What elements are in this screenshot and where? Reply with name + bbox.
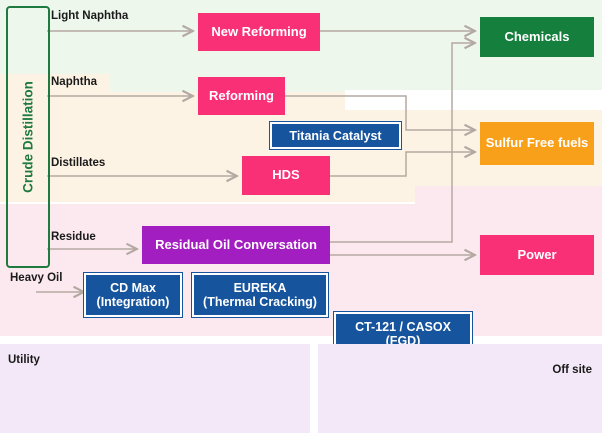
offsite-panel-label: Off site — [552, 364, 592, 376]
node-sulfur-free-fuels-label: Sulfur Free fuels — [486, 136, 589, 151]
light-stream-band-step2 — [345, 72, 602, 90]
node-residual-oil-conversation[interactable]: Residual Oil Conversation — [142, 226, 330, 264]
utility-panel-label: Utility — [8, 354, 40, 366]
node-new-reforming[interactable]: New Reforming — [198, 13, 320, 51]
node-titania-catalyst[interactable]: Titania Catalyst — [270, 122, 401, 149]
node-titania-catalyst-label: Titania Catalyst — [289, 129, 381, 143]
node-sulfur-free-fuels[interactable]: Sulfur Free fuels — [480, 122, 594, 165]
node-eureka[interactable]: EUREKA (Thermal Cracking) — [192, 273, 328, 317]
node-chemicals[interactable]: Chemicals — [480, 17, 594, 57]
node-hds-label: HDS — [272, 168, 299, 183]
node-power[interactable]: Power — [480, 235, 594, 275]
node-chemicals-label: Chemicals — [504, 30, 569, 45]
node-residual-oil-conversation-label: Residual Oil Conversation — [155, 238, 317, 253]
node-cd-max-line2: (Integration) — [97, 295, 170, 309]
node-hds[interactable]: HDS — [242, 156, 330, 195]
utility-panel: Utility Water Treating Boiler Power Gene… — [0, 344, 310, 433]
crude-distillation-label: Crude Distillation — [21, 81, 36, 193]
feed-label-distillates: Distillates — [51, 157, 105, 169]
offsite-panel: Off site Waste Water Treating Off Loadin… — [318, 344, 602, 433]
node-eureka-line1: EUREKA — [234, 281, 287, 295]
node-new-reforming-label: New Reforming — [211, 25, 306, 40]
crude-distillation-column[interactable]: Crude Distillation — [6, 6, 50, 268]
feed-label-residue: Residue — [51, 231, 96, 243]
node-cd-max-line1: CD Max — [110, 281, 156, 295]
feed-label-naphtha: Naphtha — [51, 76, 97, 88]
process-flow-diagram: Crude Distillation Light Naphtha Naphtha… — [0, 0, 602, 433]
node-reforming-label: Reforming — [209, 89, 274, 104]
node-power-label: Power — [517, 248, 556, 263]
feed-label-heavy-oil: Heavy Oil — [10, 272, 62, 284]
node-ct-121-casox-line1: CT-121 / CASOX — [355, 320, 451, 334]
node-eureka-line2: (Thermal Cracking) — [203, 295, 317, 309]
node-reforming[interactable]: Reforming — [198, 77, 285, 115]
feed-label-light-naphtha: Light Naphtha — [51, 10, 128, 22]
node-cd-max[interactable]: CD Max (Integration) — [84, 273, 182, 317]
